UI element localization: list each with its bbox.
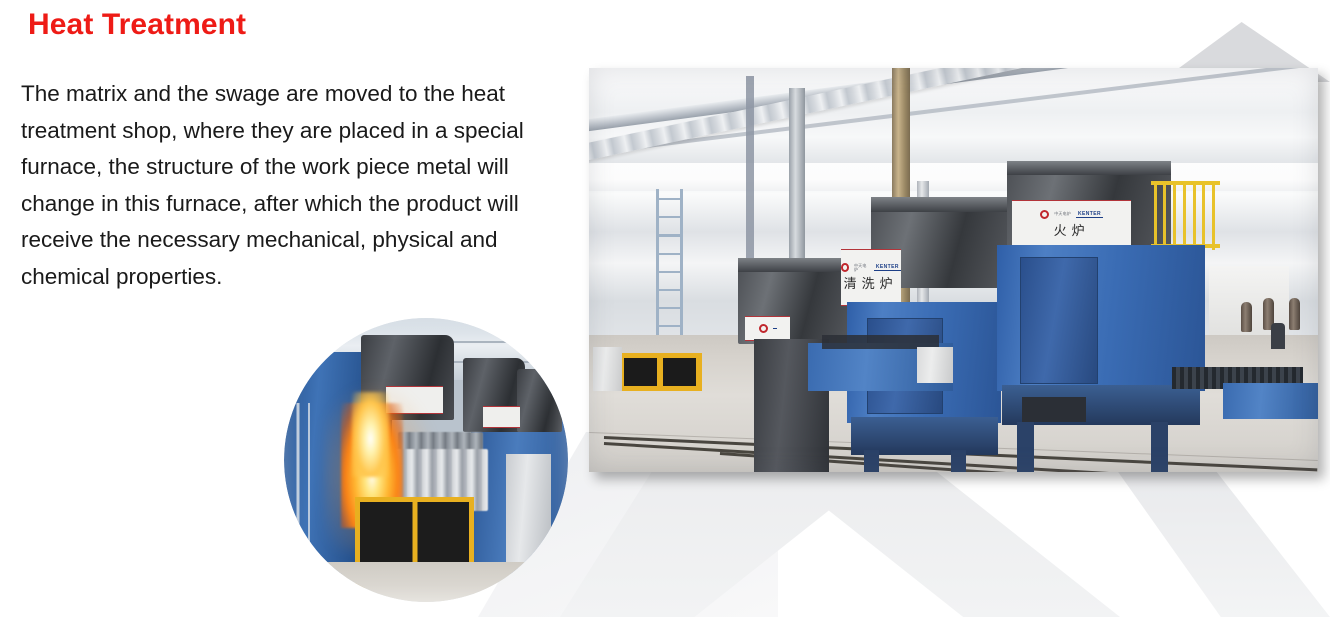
furnace-leg <box>951 450 966 472</box>
photo-scene: 中天电炉 KENTER 清洗炉 中 <box>589 68 1318 472</box>
slide-root: Heat Treatment The matrix and the swage … <box>0 0 1330 617</box>
brand-logo-icon <box>841 263 849 272</box>
furnace-sign-text: 火炉 <box>1054 220 1090 239</box>
main-photo-furnace-shop: 中天电炉 KENTER 清洗炉 中 <box>589 68 1318 472</box>
furnace-leg <box>1017 422 1034 472</box>
furnace-leg <box>1151 422 1168 472</box>
brand-sub-label: 中天电炉 <box>1054 212 1071 216</box>
brand-logo-icon <box>1040 210 1049 219</box>
furnace-sign-heat: 中天电炉 KENTER 火炉 <box>1012 200 1131 249</box>
furnace-leg <box>864 450 879 472</box>
furnace-hood-tertiary <box>517 369 562 431</box>
furnace-fixtures <box>1022 397 1086 422</box>
furnace-flame-core <box>352 392 389 477</box>
transfer-car <box>1223 383 1318 419</box>
furnace-sign-secondary <box>483 406 520 428</box>
worker-figure <box>1271 323 1285 349</box>
furnace-sign-text: 清洗炉 <box>844 273 898 292</box>
circle-photo-flaming-furnace <box>284 318 568 602</box>
gas-cylinder <box>1289 298 1300 330</box>
brand-sub-label: 中天电炉 <box>854 264 869 272</box>
equipment-cart-yellow <box>618 353 702 391</box>
body-text: The matrix and the swage are moved to th… <box>21 76 566 295</box>
body-paragraph: The matrix and the swage are moved to th… <box>21 76 566 295</box>
page-title: Heat Treatment <box>28 8 246 42</box>
exhaust-stack-small <box>746 76 754 262</box>
photo-scene <box>284 318 568 602</box>
control-cabinet <box>506 454 551 568</box>
brand-badge <box>773 328 777 329</box>
yellow-safety-railing <box>1151 176 1220 251</box>
control-cabinet <box>593 347 622 391</box>
furnace-unit-right: 中天电炉 KENTER 火炉 <box>997 161 1245 472</box>
brand-logo-icon <box>759 324 768 333</box>
furnace-sign <box>745 316 790 342</box>
shop-floor <box>284 562 568 602</box>
brand-badge: KENTER <box>874 264 901 271</box>
gas-cylinder <box>1241 302 1252 332</box>
furnace-door <box>1020 257 1099 383</box>
furnace-sign-cleaning: 中天电炉 KENTER 清洗炉 <box>841 249 901 306</box>
machinery-panel <box>917 347 953 383</box>
brand-badge: KENTER <box>1076 211 1103 218</box>
